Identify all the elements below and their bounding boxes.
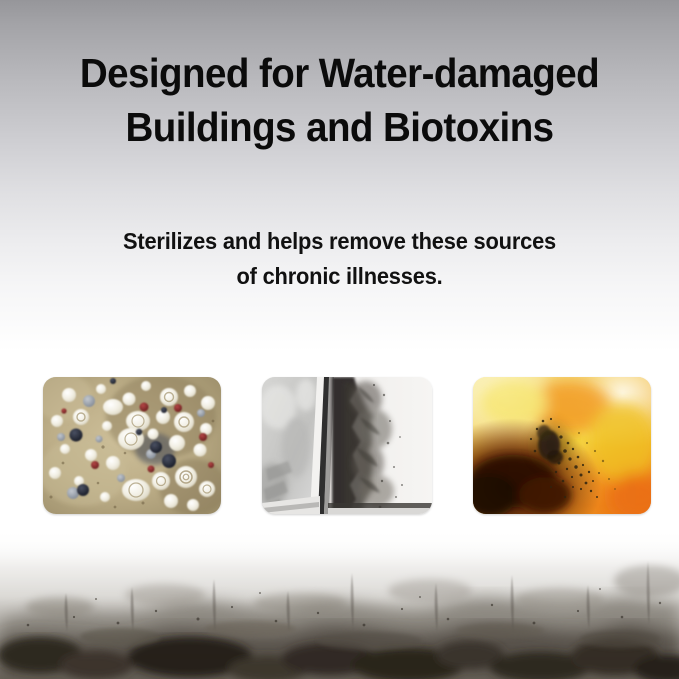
page-subtitle-line-1: Sterilizes and helps remove these source…	[17, 224, 662, 259]
water-damaged-wall-mold-texture-photo	[0, 529, 679, 679]
page-title: Designed for Water-damaged Buildings and…	[20, 46, 658, 154]
page-title-line-2: Buildings and Biotoxins	[20, 100, 658, 154]
page-title-line-1: Designed for Water-damaged	[20, 46, 658, 100]
mycotoxins-thumbnail	[262, 377, 432, 514]
agar-plate-bacterial-colonies-photo	[43, 377, 221, 514]
actinobacteria-thumbnail	[43, 377, 221, 514]
mold-texture-band	[0, 529, 679, 679]
moldy-window-frame-wall-photo	[262, 377, 432, 514]
page-subtitle-line-2: of chronic illnesses.	[17, 259, 662, 294]
yellow-orange-fungal-spore-cloud-photo	[473, 377, 651, 514]
beta-glucans-thumbnail	[473, 377, 651, 514]
page-subtitle: Sterilizes and helps remove these source…	[17, 224, 662, 294]
poster-root: Designed for Water-damaged Buildings and…	[0, 0, 679, 679]
